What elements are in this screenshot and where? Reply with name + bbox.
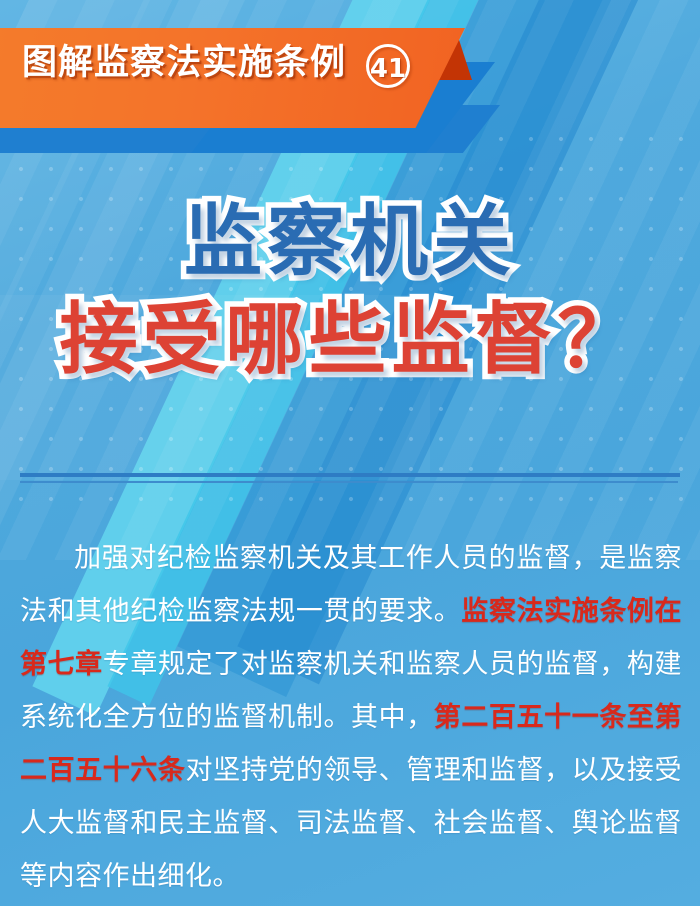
body-paragraph: 加强对纪检监察机关及其工作人员的监督，是监察法和其他纪检监察法规一贯的要求。监察… bbox=[20, 532, 682, 903]
page-title-line-2: 接受哪些监督？ bbox=[0, 288, 700, 392]
page-title-line-1: 监察机关 bbox=[0, 190, 700, 294]
header-banner: 图解监察法实施条例 41 bbox=[0, 0, 700, 170]
divider-thick bbox=[20, 473, 680, 477]
banner-title: 图解监察法实施条例 bbox=[22, 41, 346, 85]
divider-thin bbox=[20, 481, 678, 483]
banner-episode-number-badge: 41 bbox=[366, 44, 410, 88]
page-title: 监察机关 接受哪些监督？ bbox=[0, 190, 700, 392]
infographic-poster: 图解监察法实施条例 41 监察机关 接受哪些监督？ 加强对纪检监察机关及其工作人… bbox=[0, 0, 700, 906]
